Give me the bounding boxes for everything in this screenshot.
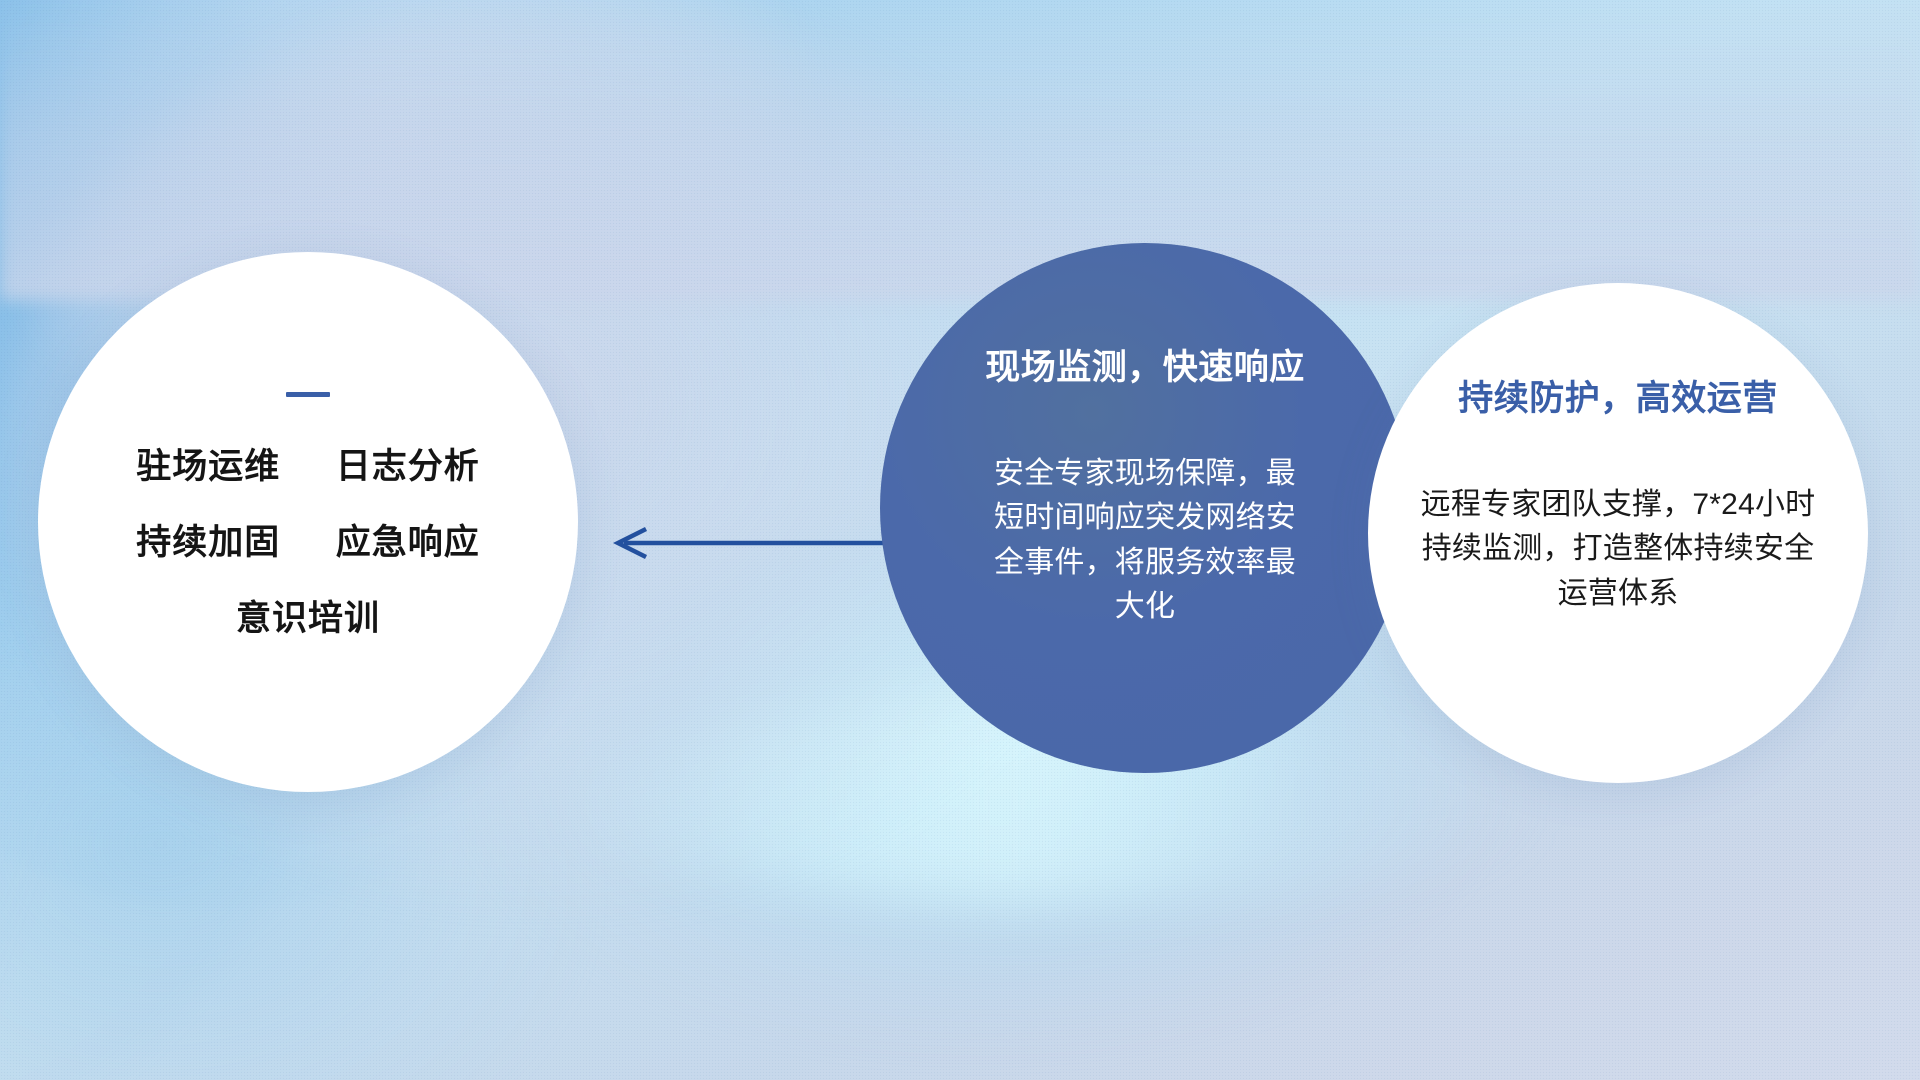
capability-emergency-response: 应急响应	[336, 523, 480, 562]
continuous-protection-body: 远程专家团队支撑，7*24小时持续监测，打造整体持续安全运营体系	[1408, 483, 1828, 616]
onsite-monitoring-body: 安全专家现场保障，最短时间响应突发网络安全事件，将服务效率最大化	[980, 452, 1310, 630]
continuous-protection-circle[interactable]: 持续防护，高效运营 远程专家团队支撑，7*24小时持续监测，打造整体持续安全运营…	[1368, 283, 1868, 783]
onsite-monitoring-circle[interactable]: 现场监测，快速响应 安全专家现场保障，最短时间响应突发网络安全事件，将服务效率最…	[880, 243, 1410, 773]
continuous-protection-title: 持续防护，高效运营	[1458, 370, 1778, 421]
onsite-monitoring-content: 现场监测，快速响应 安全专家现场保障，最短时间响应突发网络安全事件，将服务效率最…	[880, 243, 1410, 773]
diagram-stage: 驻场运维 日志分析 持续加固 应急响应 意识培训 现场监测，快速响应 安全专家现…	[0, 0, 1920, 1080]
capability-continuous-hardening: 持续加固	[136, 523, 280, 562]
service-capabilities-content: 驻场运维 日志分析 持续加固 应急响应 意识培训	[38, 252, 578, 792]
capability-row-2: 持续加固 应急响应	[136, 525, 480, 560]
service-capabilities-circle[interactable]: 驻场运维 日志分析 持续加固 应急响应 意识培训	[38, 252, 578, 792]
capability-awareness-training: 意识培训	[236, 599, 380, 638]
capability-onsite-ops: 驻场运维	[136, 447, 280, 486]
capability-row-1: 驻场运维 日志分析	[136, 449, 480, 484]
divider-dash	[286, 392, 330, 397]
arrow-left-icon	[600, 512, 900, 574]
capability-log-analysis: 日志分析	[336, 447, 480, 486]
onsite-monitoring-title: 现场监测，快速响应	[985, 339, 1305, 390]
continuous-protection-content: 持续防护，高效运营 远程专家团队支撑，7*24小时持续监测，打造整体持续安全运营…	[1368, 283, 1868, 783]
capability-row-3: 意识培训	[236, 601, 380, 636]
